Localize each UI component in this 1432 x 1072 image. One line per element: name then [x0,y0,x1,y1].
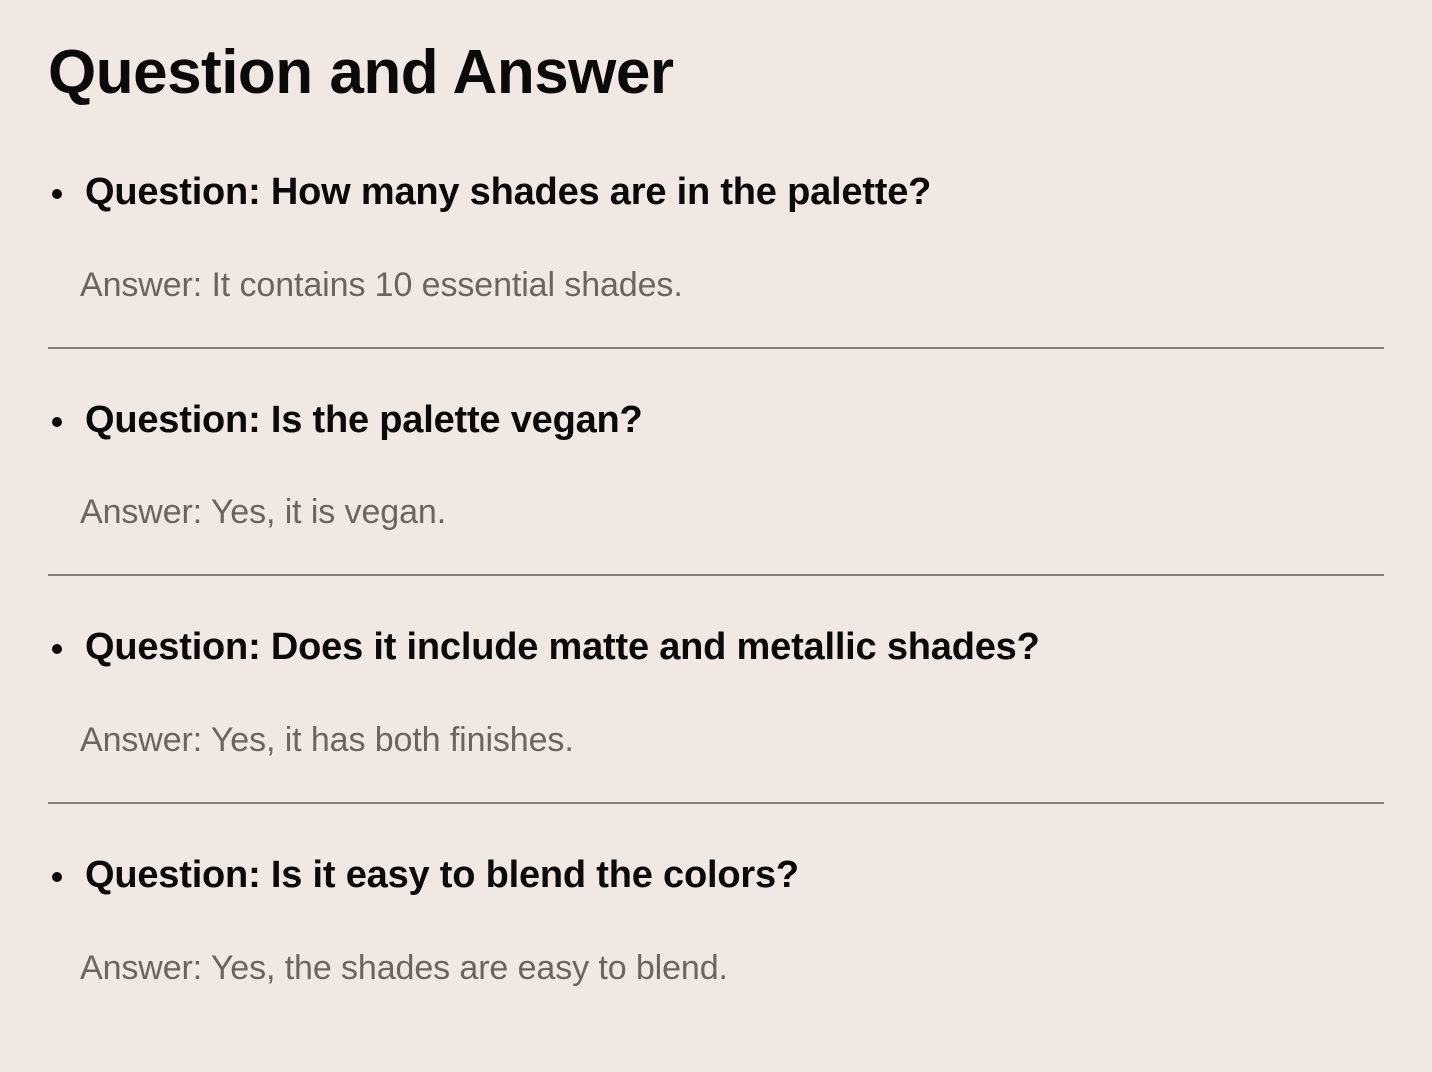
faq-item: Question: How many shades are in the pal… [48,170,1384,349]
question-answer-page: Question and Answer Question: How many s… [0,0,1432,1072]
faq-question-text: Question: How many shades are in the pal… [85,171,931,213]
faq-question: Question: Is it easy to blend the colors… [48,853,1384,898]
faq-item: Question: Is it easy to blend the colors… [48,812,1384,989]
bullet-dot-icon [52,644,62,654]
faq-answer: Answer: Yes, it is vegan. [48,492,1384,533]
page-title: Question and Answer [48,40,674,106]
faq-item-spacer [48,584,1384,625]
bullet-dot-icon [52,189,62,199]
faq-item: Question: Does it include matte and meta… [48,584,1384,804]
faq-divider [48,802,1384,804]
bullet-dot-icon [52,417,62,427]
faq-question-text: Question: Is it easy to blend the colors… [85,854,799,896]
faq-question: Question: Is the palette vegan? [48,398,1384,443]
faq-divider [48,347,1384,349]
faq-question: Question: Does it include matte and meta… [48,625,1384,670]
bullet-dot-icon [52,872,62,882]
faq-list: Question: How many shades are in the pal… [48,170,1384,989]
faq-answer: Answer: Yes, the shades are easy to blen… [48,948,1384,989]
faq-item: Question: Is the palette vegan? Answer: … [48,357,1384,577]
faq-answer: Answer: Yes, it has both finishes. [48,720,1384,761]
faq-question-text: Question: Does it include matte and meta… [85,626,1040,668]
faq-answer: Answer: It contains 10 essential shades. [48,265,1384,306]
faq-item-spacer [48,357,1384,398]
faq-question-text: Question: Is the palette vegan? [85,399,643,441]
faq-item-spacer [48,812,1384,853]
faq-question: Question: How many shades are in the pal… [48,170,1384,215]
faq-divider [48,574,1384,576]
